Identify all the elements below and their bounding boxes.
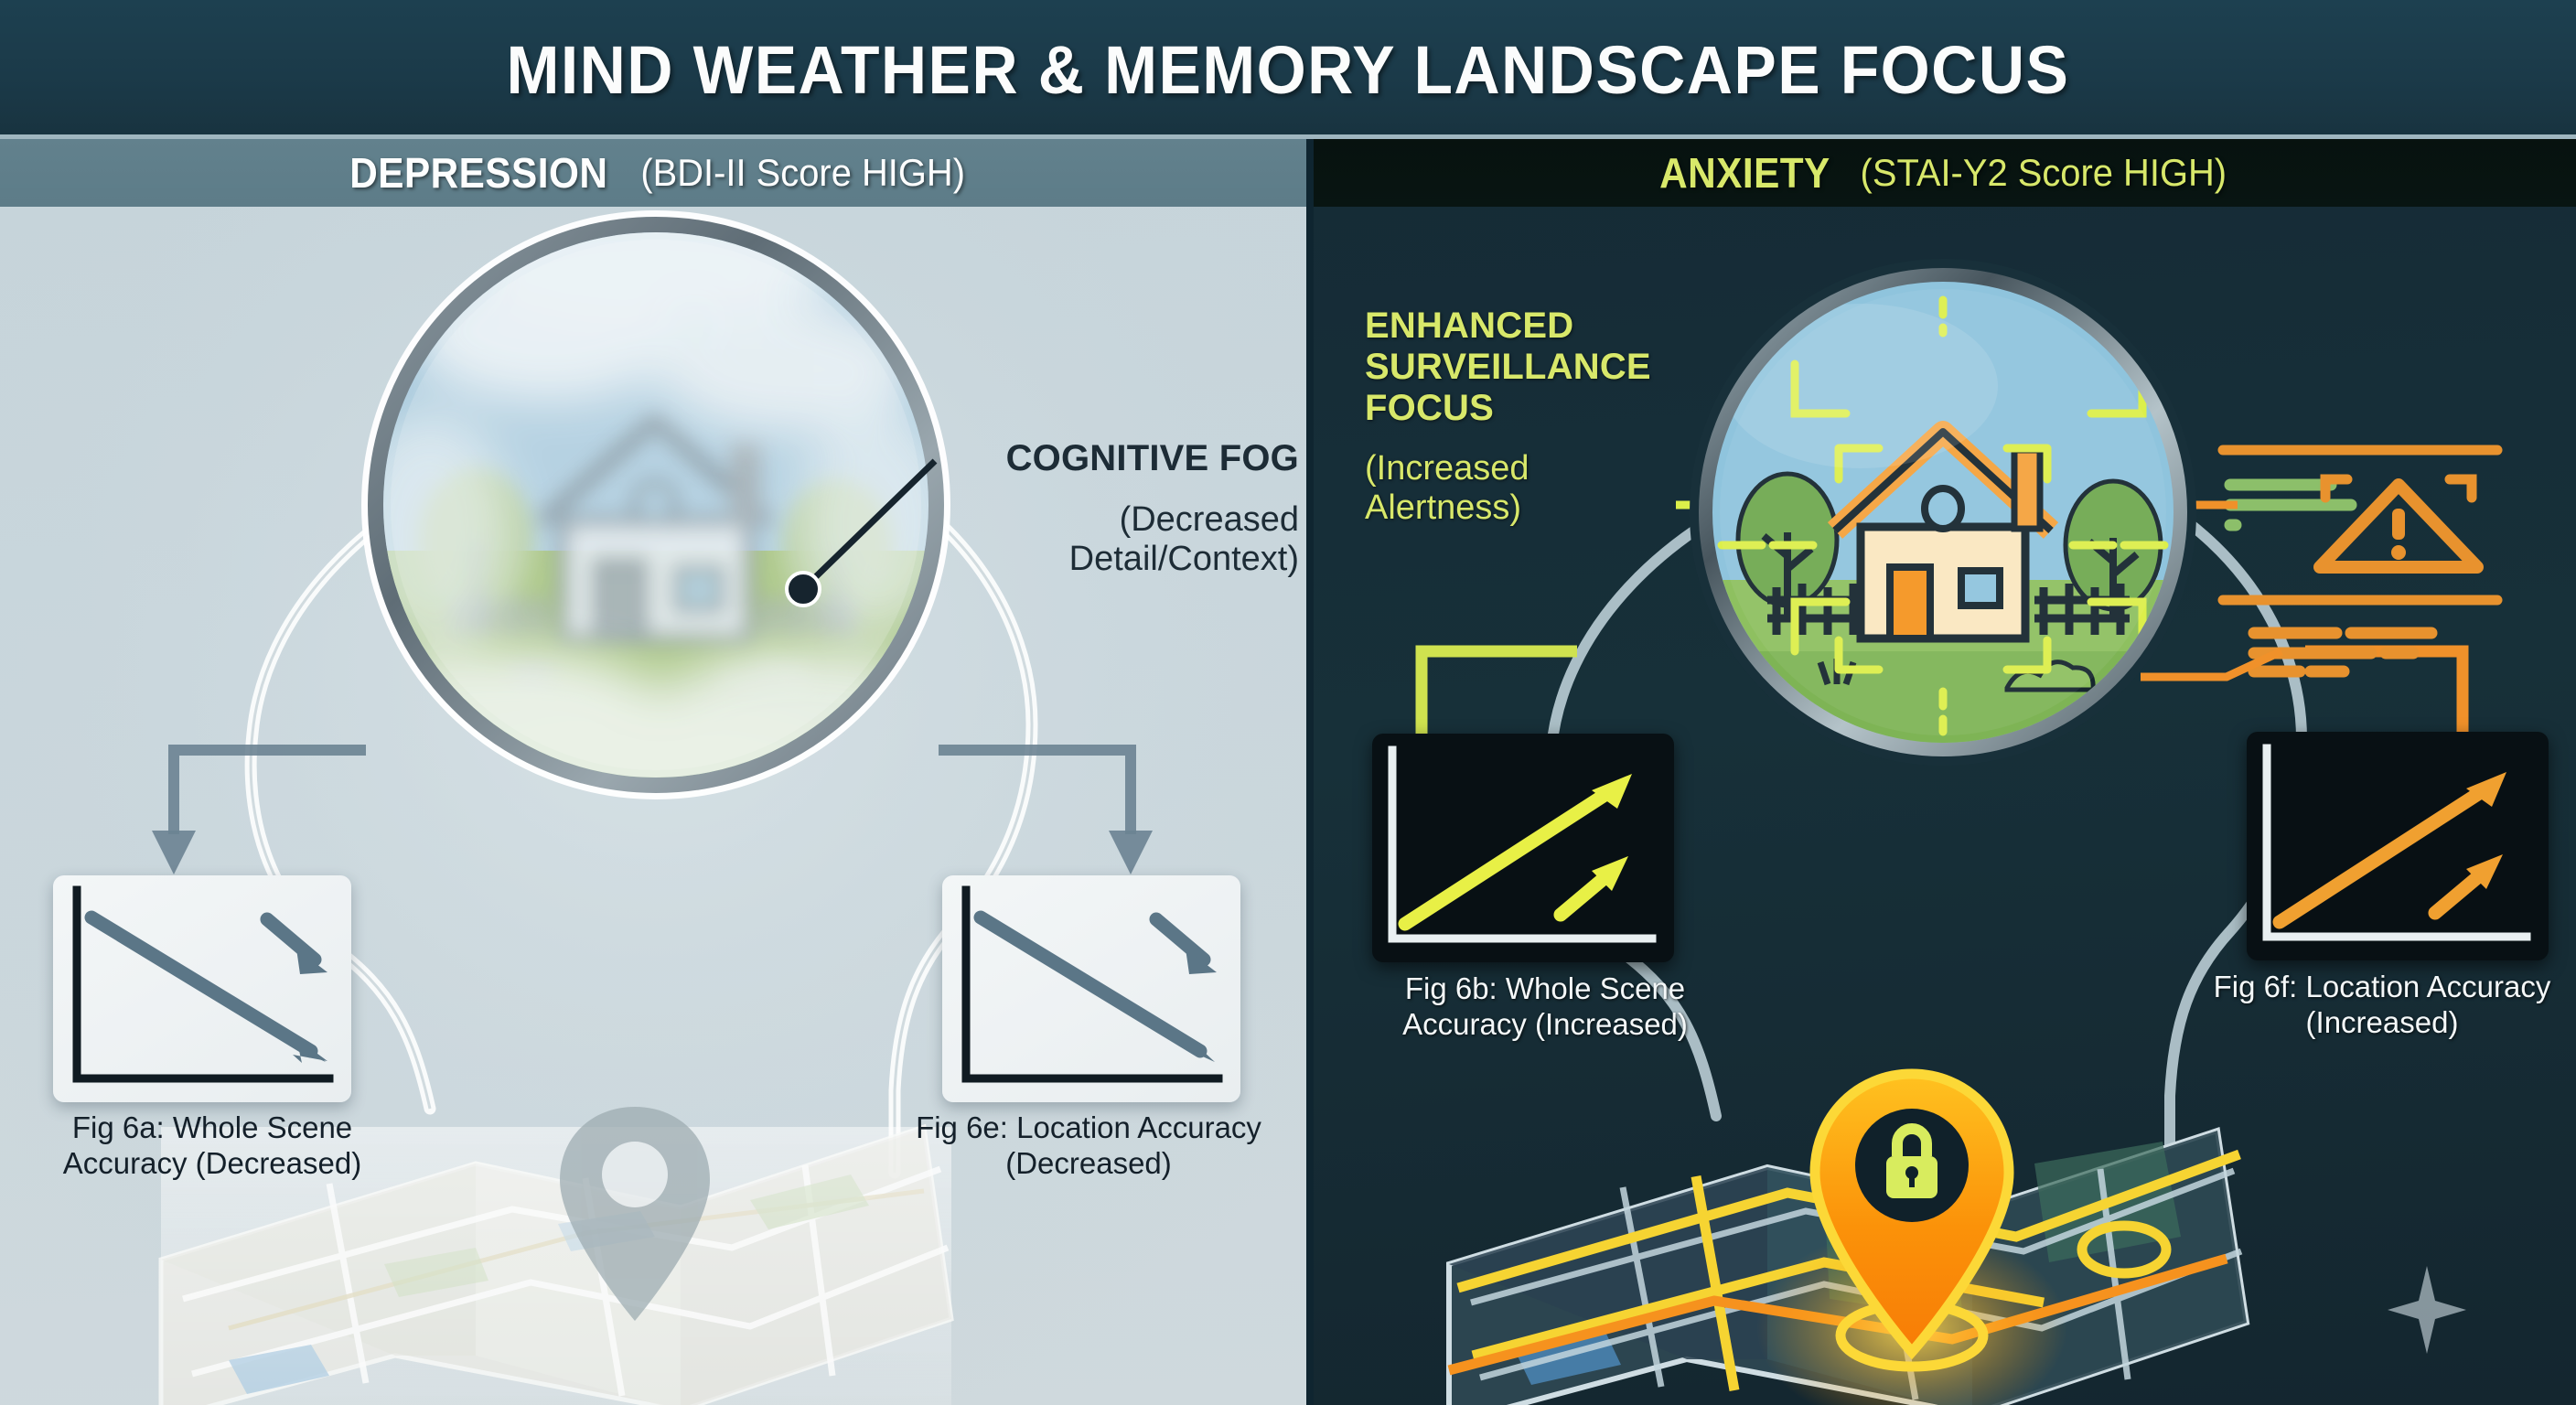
fig-6e-chart-card[interactable]	[942, 875, 1240, 1102]
fig-6a-chart	[53, 875, 351, 1102]
surveillance-focus-annotation: ENHANCED SURVEILLANCE FOCUS (Increased A…	[1365, 289, 1722, 544]
title-bar: MIND WEATHER & MEMORY LANDSCAPE FOCUS	[0, 0, 2576, 139]
fig-6a-chart-card[interactable]	[53, 875, 351, 1102]
green-detail-lines	[2230, 485, 2351, 525]
alert-panel-decorations	[2223, 450, 2497, 671]
left-arrowhead-e	[1109, 831, 1153, 874]
page-title: MIND WEATHER & MEMORY LANDSCAPE FOCUS	[507, 31, 2070, 109]
panel-divider	[1306, 139, 1314, 1405]
left-arrowhead-a	[152, 831, 196, 874]
infographic-root: MIND WEATHER & MEMORY LANDSCAPE FOCUS	[0, 0, 2576, 1405]
fig-6b-chart	[1372, 734, 1674, 962]
warning-triangle-icon	[2320, 485, 2477, 567]
anxiety-panel: ANXIETY (STAI-Y2 Score HIGH)	[1312, 139, 2576, 1405]
cognitive-fog-title: COGNITIVE FOG	[933, 437, 1299, 479]
increasing-trend-arrow-long	[1405, 774, 1632, 924]
fig-6f-chart	[2247, 732, 2549, 960]
decreasing-trend-arrow-short	[267, 919, 327, 974]
fig-6f-caption: Fig 6f: Location Accuracy (Increased)	[2190, 970, 2574, 1041]
fig-6e-caption: Fig 6e: Location Accuracy (Decreased)	[892, 1110, 1285, 1182]
increasing-trend-arrow-short	[1561, 856, 1628, 915]
foggy-scene-lens	[346, 192, 961, 834]
fig-6f-chart-card[interactable]	[2247, 732, 2549, 960]
decreasing-trend-arrow-short	[1156, 919, 1217, 974]
fig-6a-caption: Fig 6a: Whole Scene Accuracy (Decreased)	[20, 1110, 404, 1182]
cognitive-fog-subtitle: (Decreased Detail/Context)	[933, 500, 1299, 580]
cognitive-fog-annotation: COGNITIVE FOG (Decreased Detail/Context)	[933, 421, 1299, 597]
surveillance-scene-lens	[1698, 267, 2188, 757]
increasing-trend-arrow-short	[2435, 854, 2503, 913]
surveillance-focus-title: ENHANCED SURVEILLANCE FOCUS	[1365, 306, 1722, 428]
increasing-trend-arrow-long	[2280, 772, 2506, 922]
fig-6e-chart	[942, 875, 1240, 1102]
surveillance-focus-subtitle: (Increased Alertness)	[1365, 449, 1722, 527]
depression-figure-group	[0, 139, 1312, 1405]
fig-6b-chart-card[interactable]	[1372, 734, 1674, 962]
fig-6b-caption: Fig 6b: Whole Scene Accuracy (Increased)	[1348, 971, 1742, 1043]
sparkle-icon	[2388, 1266, 2466, 1354]
depression-panel: DEPRESSION (BDI-II Score HIGH)	[0, 139, 1312, 1405]
